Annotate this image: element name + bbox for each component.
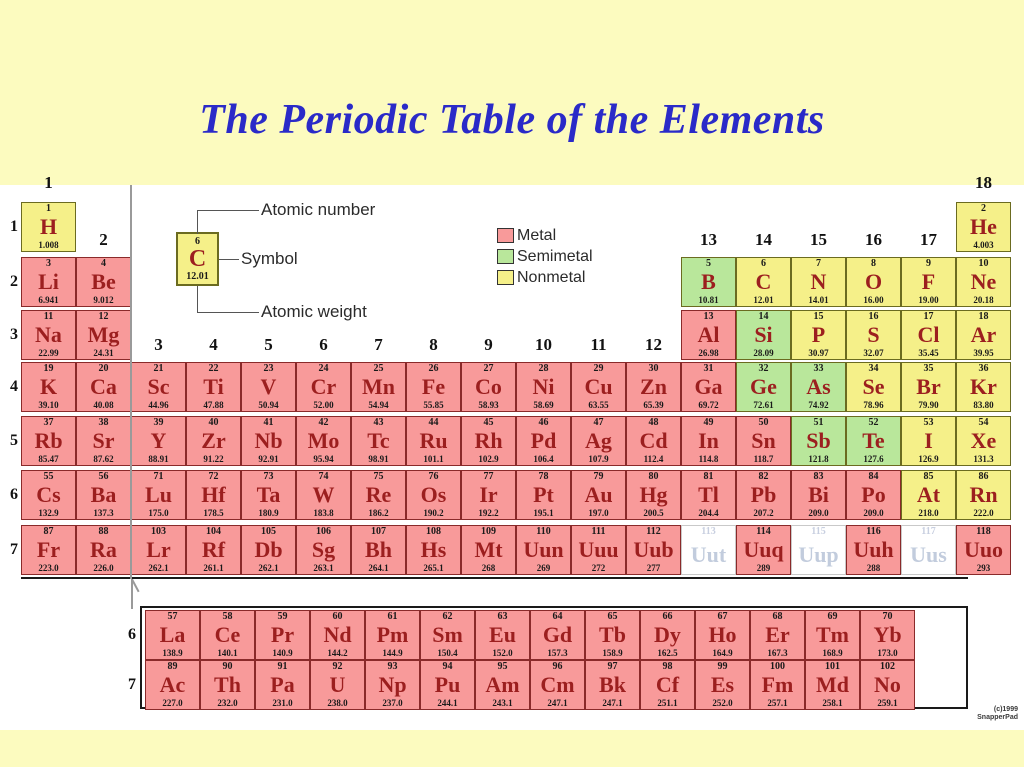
- atomic-weight: 6.941: [38, 296, 58, 305]
- atomic-number: 98: [663, 662, 673, 672]
- element-cell-es[interactable]: 99Es252.0: [695, 660, 750, 710]
- element-symbol: Pb: [751, 484, 777, 506]
- element-cell-db[interactable]: 105Db262.1: [241, 525, 296, 575]
- element-cell-ra[interactable]: 88Ra226.0: [76, 525, 131, 575]
- atomic-weight: 106.4: [533, 455, 553, 464]
- element-cell-mg[interactable]: 12Mg24.31: [76, 310, 131, 360]
- element-cell-ge[interactable]: 32Ge72.61: [736, 362, 791, 412]
- atomic-weight: 32.07: [863, 349, 883, 358]
- element-cell-k[interactable]: 19K39.10: [21, 362, 76, 412]
- atomic-number: 112: [646, 527, 660, 537]
- element-cell-ti[interactable]: 22Ti47.88: [186, 362, 241, 412]
- atomic-number: 73: [264, 472, 274, 482]
- element-cell-ru[interactable]: 44Ru101.1: [406, 416, 461, 466]
- atomic-number: 40: [209, 418, 219, 428]
- element-cell-pu[interactable]: 94Pu244.1: [420, 660, 475, 710]
- element-cell-be[interactable]: 4Be9.012: [76, 257, 131, 307]
- atomic-number: 92: [333, 662, 343, 672]
- element-symbol: Cl: [918, 324, 940, 346]
- legend-swatch-nonmetal: [497, 270, 514, 285]
- atomic-number: 114: [756, 527, 770, 537]
- atomic-number: 117: [921, 527, 935, 537]
- element-cell-eu[interactable]: 63Eu152.0: [475, 610, 530, 660]
- element-cell-ho[interactable]: 67Ho164.9: [695, 610, 750, 660]
- element-cell-sb[interactable]: 51Sb121.8: [791, 416, 846, 466]
- element-cell-mo[interactable]: 42Mo95.94: [296, 416, 351, 466]
- element-cell-mn[interactable]: 25Mn54.94: [351, 362, 406, 412]
- atomic-weight: 144.2: [327, 649, 347, 658]
- element-symbol: Kr: [970, 376, 997, 398]
- element-cell-n[interactable]: 7N14.01: [791, 257, 846, 307]
- element-symbol: U: [330, 674, 346, 696]
- element-cell-nb[interactable]: 41Nb92.91: [241, 416, 296, 466]
- element-cell-sr[interactable]: 38Sr87.62: [76, 416, 131, 466]
- atomic-weight: 265.1: [423, 564, 443, 573]
- element-cell-cs[interactable]: 55Cs132.9: [21, 470, 76, 520]
- atomic-weight: 263.1: [313, 564, 333, 573]
- element-cell-np[interactable]: 93Np237.0: [365, 660, 420, 710]
- element-symbol: Xe: [971, 430, 997, 452]
- element-cell-pt[interactable]: 78Pt195.1: [516, 470, 571, 520]
- atomic-number: 38: [99, 418, 109, 428]
- element-cell-ar[interactable]: 18Ar39.95: [956, 310, 1011, 360]
- atomic-weight: 237.0: [382, 699, 402, 708]
- atomic-number: 103: [151, 527, 166, 537]
- element-cell-v[interactable]: 23V50.94: [241, 362, 296, 412]
- element-cell-co[interactable]: 27Co58.93: [461, 362, 516, 412]
- atomic-number: 1: [46, 204, 51, 214]
- element-cell-uuq[interactable]: 114Uuq289: [736, 525, 791, 575]
- element-cell-bi[interactable]: 83Bi209.0: [791, 470, 846, 520]
- atomic-number: 41: [264, 418, 274, 428]
- atomic-number: 55: [44, 472, 54, 482]
- element-symbol: Sc: [148, 376, 170, 398]
- atomic-number: 93: [388, 662, 398, 672]
- group-label-1: 1: [21, 173, 76, 193]
- element-cell-dy[interactable]: 66Dy162.5: [640, 610, 695, 660]
- atomic-weight: 107.9: [588, 455, 608, 464]
- atomic-number: 45: [484, 418, 494, 428]
- group-label-11: 11: [571, 335, 626, 355]
- group-label-15: 15: [791, 230, 846, 250]
- element-cell-fr[interactable]: 87Fr223.0: [21, 525, 76, 575]
- element-cell-fe[interactable]: 26Fe55.85: [406, 362, 461, 412]
- atomic-weight: 262.1: [148, 564, 168, 573]
- element-cell-ir[interactable]: 77Ir192.2: [461, 470, 516, 520]
- element-cell-c[interactable]: 6C12.01: [736, 257, 791, 307]
- element-symbol: Cu: [584, 376, 612, 398]
- element-cell-pd[interactable]: 46Pd106.4: [516, 416, 571, 466]
- atomic-number: 75: [374, 472, 384, 482]
- element-cell-at[interactable]: 85At218.0: [901, 470, 956, 520]
- element-cell-p[interactable]: 15P30.97: [791, 310, 846, 360]
- element-cell-u[interactable]: 92U238.0: [310, 660, 365, 710]
- element-cell-zr[interactable]: 40Zr91.22: [186, 416, 241, 466]
- atomic-number: 74: [319, 472, 329, 482]
- element-cell-uuo[interactable]: 118Uuo293: [956, 525, 1011, 575]
- element-cell-uub[interactable]: 112Uub277: [626, 525, 681, 575]
- atomic-weight: 204.4: [698, 509, 718, 518]
- atomic-weight: 114.8: [699, 455, 719, 464]
- atomic-weight: 132.9: [38, 509, 58, 518]
- atomic-weight: 164.9: [712, 649, 732, 658]
- periodic-table: 6 C 12.01 Atomic number Symbol Atomic we…: [0, 185, 1024, 730]
- element-cell-te[interactable]: 52Te127.6: [846, 416, 901, 466]
- element-cell-ce[interactable]: 58Ce140.1: [200, 610, 255, 660]
- element-cell-zn[interactable]: 30Zn65.39: [626, 362, 681, 412]
- element-symbol: Np: [378, 674, 406, 696]
- element-cell-uun[interactable]: 110Uun269: [516, 525, 571, 575]
- element-symbol: Mt: [474, 539, 502, 561]
- element-cell-yb[interactable]: 70Yb173.0: [860, 610, 915, 660]
- group-label-14: 14: [736, 230, 791, 250]
- legend-label: Nonmetal: [517, 269, 585, 287]
- callout-atomic-number: Atomic number: [261, 200, 375, 220]
- element-symbol: Uut: [691, 544, 726, 566]
- element-cell-h[interactable]: 1H1.008: [21, 202, 76, 252]
- element-cell-cf[interactable]: 98Cf251.1: [640, 660, 695, 710]
- leader-line-atomic-weight-v: [197, 286, 198, 312]
- atomic-number: 27: [484, 364, 494, 374]
- atomic-number: 80: [649, 472, 659, 482]
- element-symbol: Cf: [656, 674, 679, 696]
- credit-note: (c)1999 SnapperPad: [977, 706, 1018, 722]
- element-symbol: Rn: [969, 484, 997, 506]
- element-symbol: Dy: [654, 624, 681, 646]
- element-symbol: In: [698, 430, 719, 452]
- atomic-number: 57: [168, 612, 178, 622]
- element-cell-er[interactable]: 68Er167.3: [750, 610, 805, 660]
- element-cell-nd[interactable]: 60Nd144.2: [310, 610, 365, 660]
- atomic-weight: 63.55: [588, 401, 608, 410]
- atomic-number: 36: [979, 364, 989, 374]
- element-cell-ac[interactable]: 89Ac227.0: [145, 660, 200, 710]
- element-cell-lr[interactable]: 103Lr262.1: [131, 525, 186, 575]
- element-cell-ga[interactable]: 31Ga69.72: [681, 362, 736, 412]
- element-symbol: Ru: [419, 430, 447, 452]
- atomic-weight: 40.08: [93, 401, 113, 410]
- atomic-weight: 24.31: [93, 349, 113, 358]
- element-cell-uut[interactable]: 113Uut: [681, 525, 736, 575]
- element-cell-hs[interactable]: 108Hs265.1: [406, 525, 461, 575]
- element-cell-hg[interactable]: 80Hg200.5: [626, 470, 681, 520]
- element-cell-si[interactable]: 14Si28.09: [736, 310, 791, 360]
- element-symbol: Zn: [640, 376, 667, 398]
- element-cell-as[interactable]: 33As74.92: [791, 362, 846, 412]
- atomic-weight: 83.80: [973, 401, 993, 410]
- element-symbol: Ac: [160, 674, 186, 696]
- atomic-number: 110: [536, 527, 550, 537]
- atomic-number: 53: [924, 418, 934, 428]
- atomic-weight: 190.2: [423, 509, 443, 518]
- atomic-weight: 44.96: [148, 401, 168, 410]
- element-cell-pb[interactable]: 82Pb207.2: [736, 470, 791, 520]
- element-cell-th[interactable]: 90Th232.0: [200, 660, 255, 710]
- atomic-number: 72: [209, 472, 219, 482]
- element-symbol: Uuq: [743, 539, 783, 561]
- element-symbol: Sr: [93, 430, 115, 452]
- atomic-number: 89: [168, 662, 178, 672]
- element-cell-mt[interactable]: 109Mt268: [461, 525, 516, 575]
- element-cell-tc[interactable]: 43Tc98.91: [351, 416, 406, 466]
- atomic-weight: 288: [867, 564, 881, 573]
- element-symbol: B: [701, 271, 716, 293]
- atomic-weight: 150.4: [437, 649, 457, 658]
- element-cell-rh[interactable]: 45Rh102.9: [461, 416, 516, 466]
- element-cell-re[interactable]: 75Re186.2: [351, 470, 406, 520]
- element-symbol: Uuo: [964, 539, 1003, 561]
- atomic-number: 87: [44, 527, 54, 537]
- element-symbol: Ti: [203, 376, 223, 398]
- atomic-weight: 200.5: [643, 509, 663, 518]
- atomic-number: 44: [429, 418, 439, 428]
- atomic-weight: 232.0: [217, 699, 237, 708]
- atomic-weight: 231.0: [272, 699, 292, 708]
- element-symbol: Pr: [271, 624, 294, 646]
- atomic-number: 71: [154, 472, 164, 482]
- element-cell-tl[interactable]: 81Tl204.4: [681, 470, 736, 520]
- element-cell-cl[interactable]: 17Cl35.45: [901, 310, 956, 360]
- element-cell-b[interactable]: 5B10.81: [681, 257, 736, 307]
- element-cell-pa[interactable]: 91Pa231.0: [255, 660, 310, 710]
- element-cell-ag[interactable]: 47Ag107.9: [571, 416, 626, 466]
- element-cell-pm[interactable]: 61Pm144.9: [365, 610, 420, 660]
- group-label-6: 6: [296, 335, 351, 355]
- atomic-weight: 92.91: [258, 455, 278, 464]
- element-cell-rf[interactable]: 104Rf261.1: [186, 525, 241, 575]
- element-cell-au[interactable]: 79Au197.0: [571, 470, 626, 520]
- element-cell-cu[interactable]: 29Cu63.55: [571, 362, 626, 412]
- element-cell-uuh[interactable]: 116Uuh288: [846, 525, 901, 575]
- element-cell-sc[interactable]: 21Sc44.96: [131, 362, 186, 412]
- atomic-weight: 78.96: [863, 401, 883, 410]
- element-symbol: Pd: [531, 430, 557, 452]
- atomic-number: 23: [264, 364, 274, 374]
- element-symbol: H: [40, 216, 57, 238]
- atomic-number: 56: [99, 472, 109, 482]
- element-cell-am[interactable]: 95Am243.1: [475, 660, 530, 710]
- atomic-number: 31: [704, 364, 714, 374]
- element-cell-sn[interactable]: 50Sn118.7: [736, 416, 791, 466]
- element-cell-se[interactable]: 34Se78.96: [846, 362, 901, 412]
- element-symbol: Es: [711, 674, 734, 696]
- group-label-16: 16: [846, 230, 901, 250]
- atomic-number: 97: [608, 662, 618, 672]
- period-label-7: 7: [0, 541, 18, 559]
- atomic-weight: 168.9: [822, 649, 842, 658]
- atomic-number: 21: [154, 364, 164, 374]
- atomic-number: 99: [718, 662, 728, 672]
- atomic-weight: 162.5: [657, 649, 677, 658]
- element-symbol: Sg: [312, 539, 335, 561]
- atomic-number: 90: [223, 662, 233, 672]
- atomic-weight: 207.2: [753, 509, 773, 518]
- element-symbol: Rf: [202, 539, 225, 561]
- element-cell-uup[interactable]: 115Uup: [791, 525, 846, 575]
- element-symbol: F: [922, 271, 935, 293]
- atomic-number: 11: [44, 312, 53, 322]
- element-symbol: I: [924, 430, 933, 452]
- legend-item-nonmetal: Nonmetal: [497, 267, 593, 288]
- atomic-number: 6: [761, 259, 766, 269]
- element-cell-al[interactable]: 13Al26.98: [681, 310, 736, 360]
- element-cell-ta[interactable]: 73Ta180.9: [241, 470, 296, 520]
- atomic-number: 43: [374, 418, 384, 428]
- element-cell-bh[interactable]: 107Bh264.1: [351, 525, 406, 575]
- atomic-number: 68: [773, 612, 783, 622]
- element-symbol: Ca: [90, 376, 117, 398]
- element-cell-ba[interactable]: 56Ba137.3: [76, 470, 131, 520]
- atomic-number: 111: [592, 527, 606, 537]
- element-cell-xe[interactable]: 54Xe131.3: [956, 416, 1011, 466]
- element-cell-po[interactable]: 84Po209.0: [846, 470, 901, 520]
- element-cell-he[interactable]: 2He4.003: [956, 202, 1011, 252]
- atomic-weight: 102.9: [478, 455, 498, 464]
- atomic-weight: 218.0: [918, 509, 938, 518]
- atomic-weight: 112.4: [644, 455, 664, 464]
- element-cell-md[interactable]: 101Md258.1: [805, 660, 860, 710]
- element-symbol: Tc: [367, 430, 389, 452]
- element-cell-gd[interactable]: 64Gd157.3: [530, 610, 585, 660]
- element-cell-sm[interactable]: 62Sm150.4: [420, 610, 475, 660]
- atomic-weight: 277: [647, 564, 661, 573]
- atomic-weight: 101.1: [423, 455, 443, 464]
- group-label-13: 13: [681, 230, 736, 250]
- group-label-12: 12: [626, 335, 681, 355]
- atomic-number: 19: [44, 364, 54, 374]
- atomic-number: 10: [979, 259, 989, 269]
- element-cell-y[interactable]: 39Y88.91: [131, 416, 186, 466]
- atomic-weight: 262.1: [258, 564, 278, 573]
- element-cell-os[interactable]: 76Os190.2: [406, 470, 461, 520]
- element-cell-kr[interactable]: 36Kr83.80: [956, 362, 1011, 412]
- element-symbol: O: [865, 271, 882, 293]
- element-symbol: S: [867, 324, 879, 346]
- atomic-number: 13: [704, 312, 714, 322]
- element-symbol: Na: [35, 324, 62, 346]
- atomic-weight: 167.3: [767, 649, 787, 658]
- atomic-number: 66: [663, 612, 673, 622]
- atomic-number: 35: [924, 364, 934, 374]
- element-symbol: Fr: [37, 539, 60, 561]
- atomic-number: 70: [883, 612, 893, 622]
- element-cell-fm[interactable]: 100Fm257.1: [750, 660, 805, 710]
- element-symbol: K: [40, 376, 57, 398]
- element-cell-s[interactable]: 16S32.07: [846, 310, 901, 360]
- element-cell-in[interactable]: 49In114.8: [681, 416, 736, 466]
- element-cell-na[interactable]: 11Na22.99: [21, 310, 76, 360]
- group-label-8: 8: [406, 335, 461, 355]
- element-symbol: Md: [816, 674, 849, 696]
- atomic-number: 20: [99, 364, 109, 374]
- atomic-weight: 195.1: [533, 509, 553, 518]
- atomic-weight: 186.2: [368, 509, 388, 518]
- atomic-weight: 22.99: [38, 349, 58, 358]
- credit-line-1: (c)1999: [977, 706, 1018, 714]
- leader-line-atomic-number-v: [197, 210, 198, 234]
- element-cell-hf[interactable]: 72Hf178.5: [186, 470, 241, 520]
- atomic-number: 101: [825, 662, 840, 672]
- element-symbol: Mn: [362, 376, 395, 398]
- atomic-weight: 9.012: [93, 296, 113, 305]
- period-label-5: 5: [0, 432, 18, 450]
- atomic-weight: 183.8: [313, 509, 333, 518]
- atomic-number: 46: [539, 418, 549, 428]
- element-cell-br[interactable]: 35Br79.90: [901, 362, 956, 412]
- key-symbol: C: [189, 247, 206, 271]
- element-symbol: Fm: [762, 674, 794, 696]
- group-label-10: 10: [516, 335, 571, 355]
- atomic-number: 84: [869, 472, 879, 482]
- element-symbol: Rb: [34, 430, 62, 452]
- element-cell-uuu[interactable]: 111Uuu272: [571, 525, 626, 575]
- atomic-weight: 261.1: [203, 564, 223, 573]
- element-cell-ni[interactable]: 28Ni58.69: [516, 362, 571, 412]
- key-example-cell: 6 C 12.01: [176, 232, 219, 286]
- element-symbol: Mg: [88, 324, 120, 346]
- element-cell-li[interactable]: 3Li6.941: [21, 257, 76, 307]
- group-label-17: 17: [901, 230, 956, 250]
- element-cell-la[interactable]: 57La138.9: [145, 610, 200, 660]
- atomic-number: 64: [553, 612, 563, 622]
- element-symbol: Al: [698, 324, 720, 346]
- element-symbol: Uup: [798, 544, 838, 566]
- atomic-number: 7: [816, 259, 821, 269]
- element-cell-no[interactable]: 102No259.1: [860, 660, 915, 710]
- element-cell-i[interactable]: 53I126.9: [901, 416, 956, 466]
- element-symbol: As: [806, 376, 830, 398]
- atomic-number: 59: [278, 612, 288, 622]
- element-symbol: Se: [863, 376, 885, 398]
- element-symbol: Re: [366, 484, 392, 506]
- leader-line-atomic-weight-h: [197, 312, 259, 313]
- element-symbol: Bh: [365, 539, 392, 561]
- element-cell-cd[interactable]: 48Cd112.4: [626, 416, 681, 466]
- atomic-weight: 52.00: [313, 401, 333, 410]
- page-title: The Periodic Table of the Elements: [199, 97, 825, 143]
- element-symbol: Hs: [421, 539, 447, 561]
- element-symbol: Bk: [599, 674, 626, 696]
- element-cell-rb[interactable]: 37Rb85.47: [21, 416, 76, 466]
- element-cell-uus[interactable]: 117Uus: [901, 525, 956, 575]
- element-cell-sg[interactable]: 106Sg263.1: [296, 525, 351, 575]
- element-cell-w[interactable]: 74W183.8: [296, 470, 351, 520]
- atomic-weight: 289: [757, 564, 771, 573]
- atomic-number: 105: [261, 527, 276, 537]
- element-cell-tb[interactable]: 65Tb158.9: [585, 610, 640, 660]
- element-cell-ne[interactable]: 10Ne20.18: [956, 257, 1011, 307]
- atomic-weight: 26.98: [698, 349, 718, 358]
- element-symbol: Eu: [489, 624, 516, 646]
- element-cell-tm[interactable]: 69Tm168.9: [805, 610, 860, 660]
- element-symbol: Cs: [36, 484, 60, 506]
- element-cell-cm[interactable]: 96Cm247.1: [530, 660, 585, 710]
- atomic-weight: 10.81: [698, 296, 718, 305]
- atomic-number: 65: [608, 612, 618, 622]
- element-cell-bk[interactable]: 97Bk247.1: [585, 660, 640, 710]
- atomic-weight: 209.0: [808, 509, 828, 518]
- element-cell-pr[interactable]: 59Pr140.9: [255, 610, 310, 660]
- element-cell-cr[interactable]: 24Cr52.00: [296, 362, 351, 412]
- element-symbol: Hg: [639, 484, 667, 506]
- element-cell-f[interactable]: 9F19.00: [901, 257, 956, 307]
- element-cell-ca[interactable]: 20Ca40.08: [76, 362, 131, 412]
- element-cell-lu[interactable]: 71Lu175.0: [131, 470, 186, 520]
- element-cell-o[interactable]: 8O16.00: [846, 257, 901, 307]
- atomic-number: 30: [649, 364, 659, 374]
- element-cell-rn[interactable]: 86Rn222.0: [956, 470, 1011, 520]
- element-symbol: Ga: [694, 376, 722, 398]
